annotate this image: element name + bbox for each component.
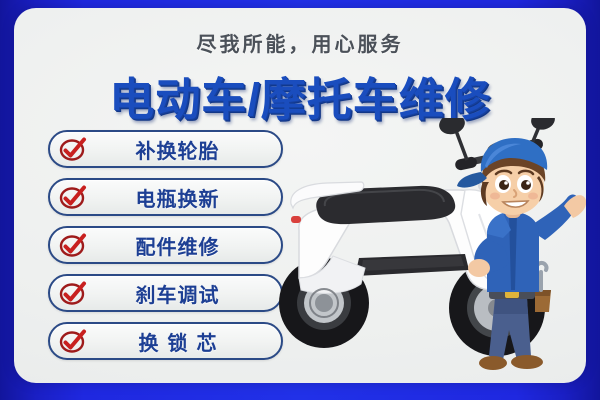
service-list: 补换轮胎 电瓶换新 配件维修 (48, 130, 283, 360)
service-label: 换锁芯 (88, 327, 281, 356)
check-circle-icon (58, 230, 88, 260)
check-circle-icon (58, 326, 88, 356)
service-label: 电瓶换新 (88, 183, 281, 212)
artwork-illustration (269, 118, 586, 383)
service-label: 补换轮胎 (88, 135, 281, 164)
poster-root: 尽我所能，用心服务 电动车/摩托车维修 补换轮胎 (0, 0, 600, 400)
check-circle-icon (58, 134, 88, 164)
mechanic-shoe-left (479, 356, 507, 370)
service-item-brake[interactable]: 刹车调试 (48, 274, 283, 312)
service-item-lock[interactable]: 换锁芯 (48, 322, 283, 360)
check-circle-icon (58, 182, 88, 212)
scooter-tail-light (291, 216, 301, 223)
mechanic-shoe-right (511, 355, 543, 369)
service-item-parts[interactable]: 配件维修 (48, 226, 283, 264)
poster-tagline: 尽我所能，用心服务 (14, 28, 586, 57)
mechanic-left-hand (468, 259, 490, 277)
poster-card: 尽我所能，用心服务 电动车/摩托车维修 补换轮胎 (14, 8, 586, 383)
service-item-tire[interactable]: 补换轮胎 (48, 130, 283, 168)
service-item-battery[interactable]: 电瓶换新 (48, 178, 283, 216)
service-label: 刹车调试 (88, 279, 281, 308)
service-label: 配件维修 (88, 231, 281, 260)
check-circle-icon (58, 278, 88, 308)
